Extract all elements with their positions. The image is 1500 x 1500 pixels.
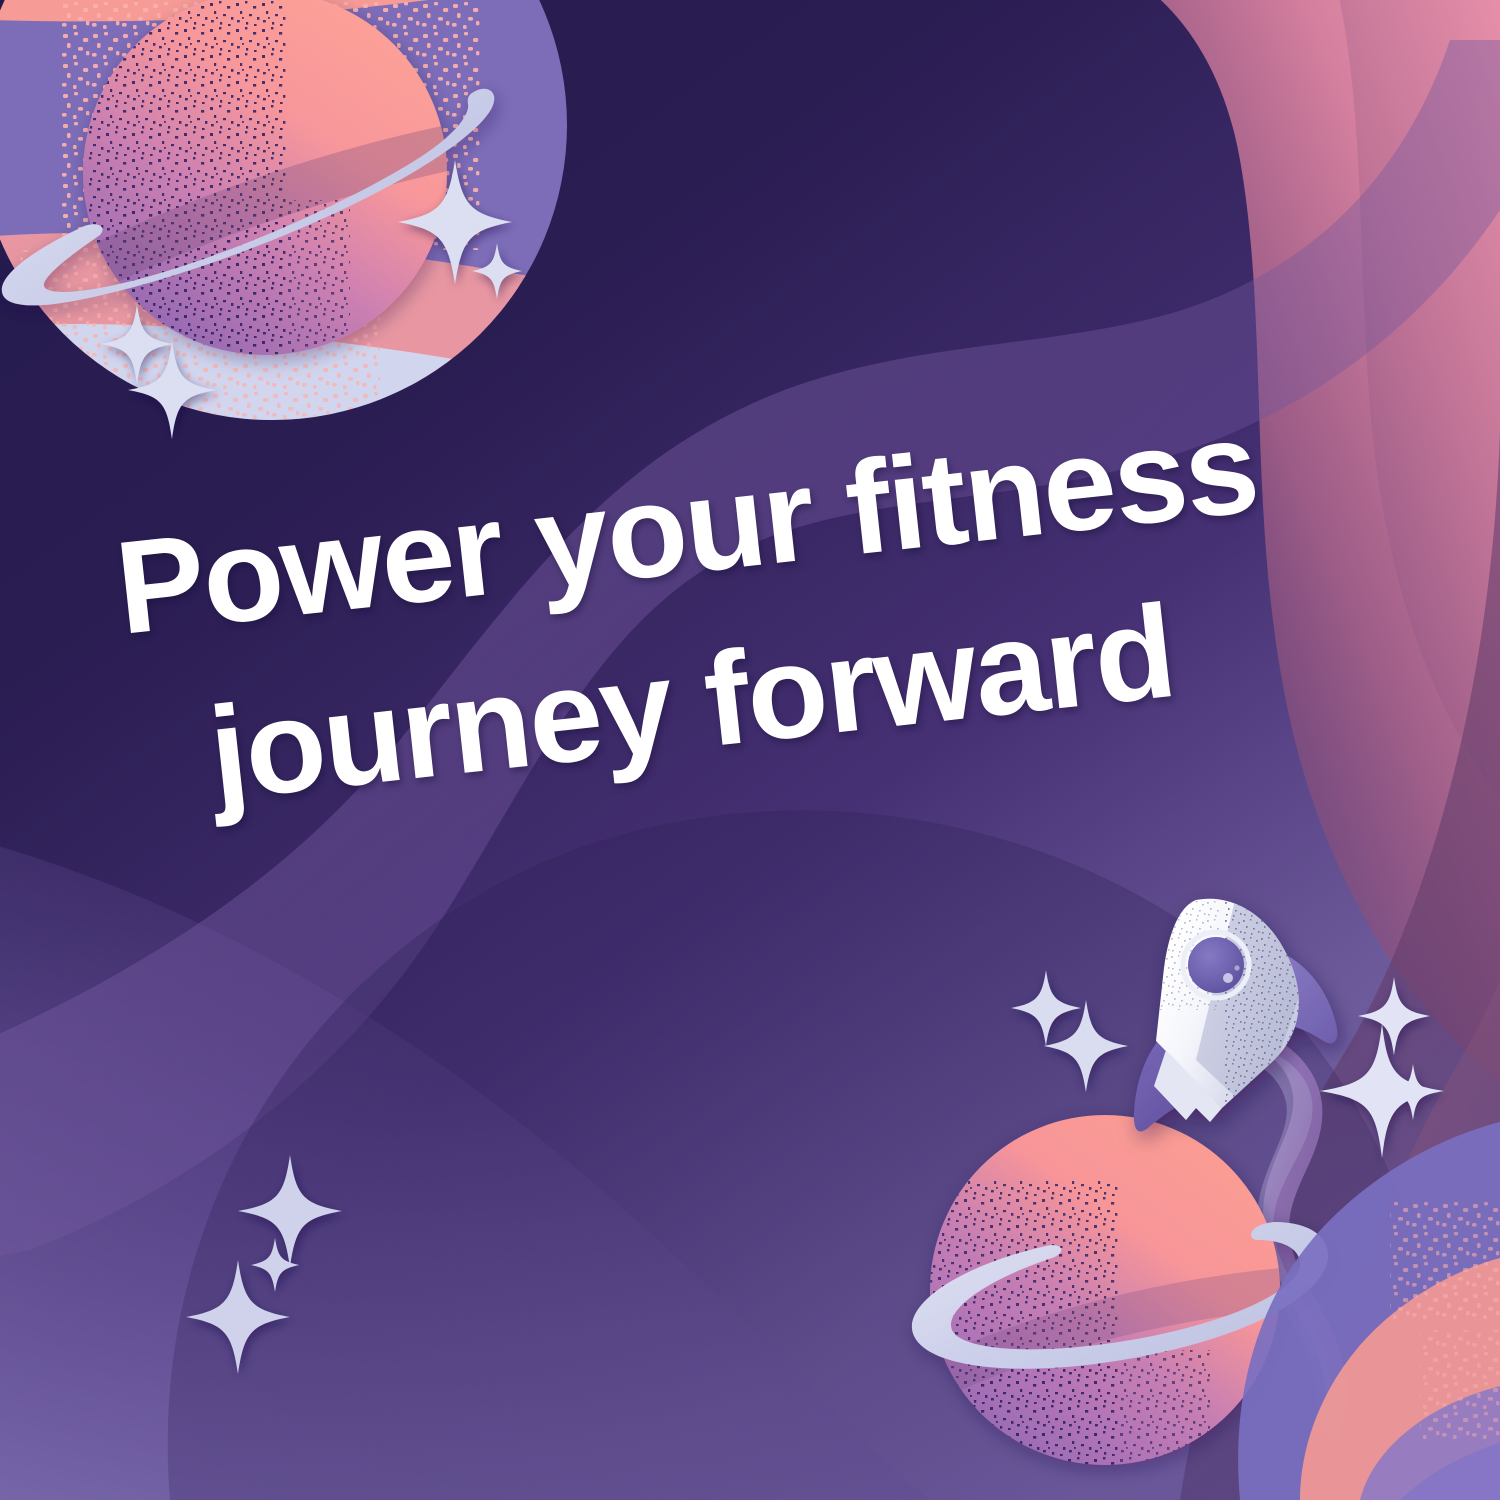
poster-canvas: Power your fitness journey forward [0,0,1500,1500]
rocket-porthole [1183,932,1249,998]
porthole-glint-small [1234,965,1239,970]
porthole-glint [1223,973,1233,983]
space-illustration [0,0,1500,1500]
